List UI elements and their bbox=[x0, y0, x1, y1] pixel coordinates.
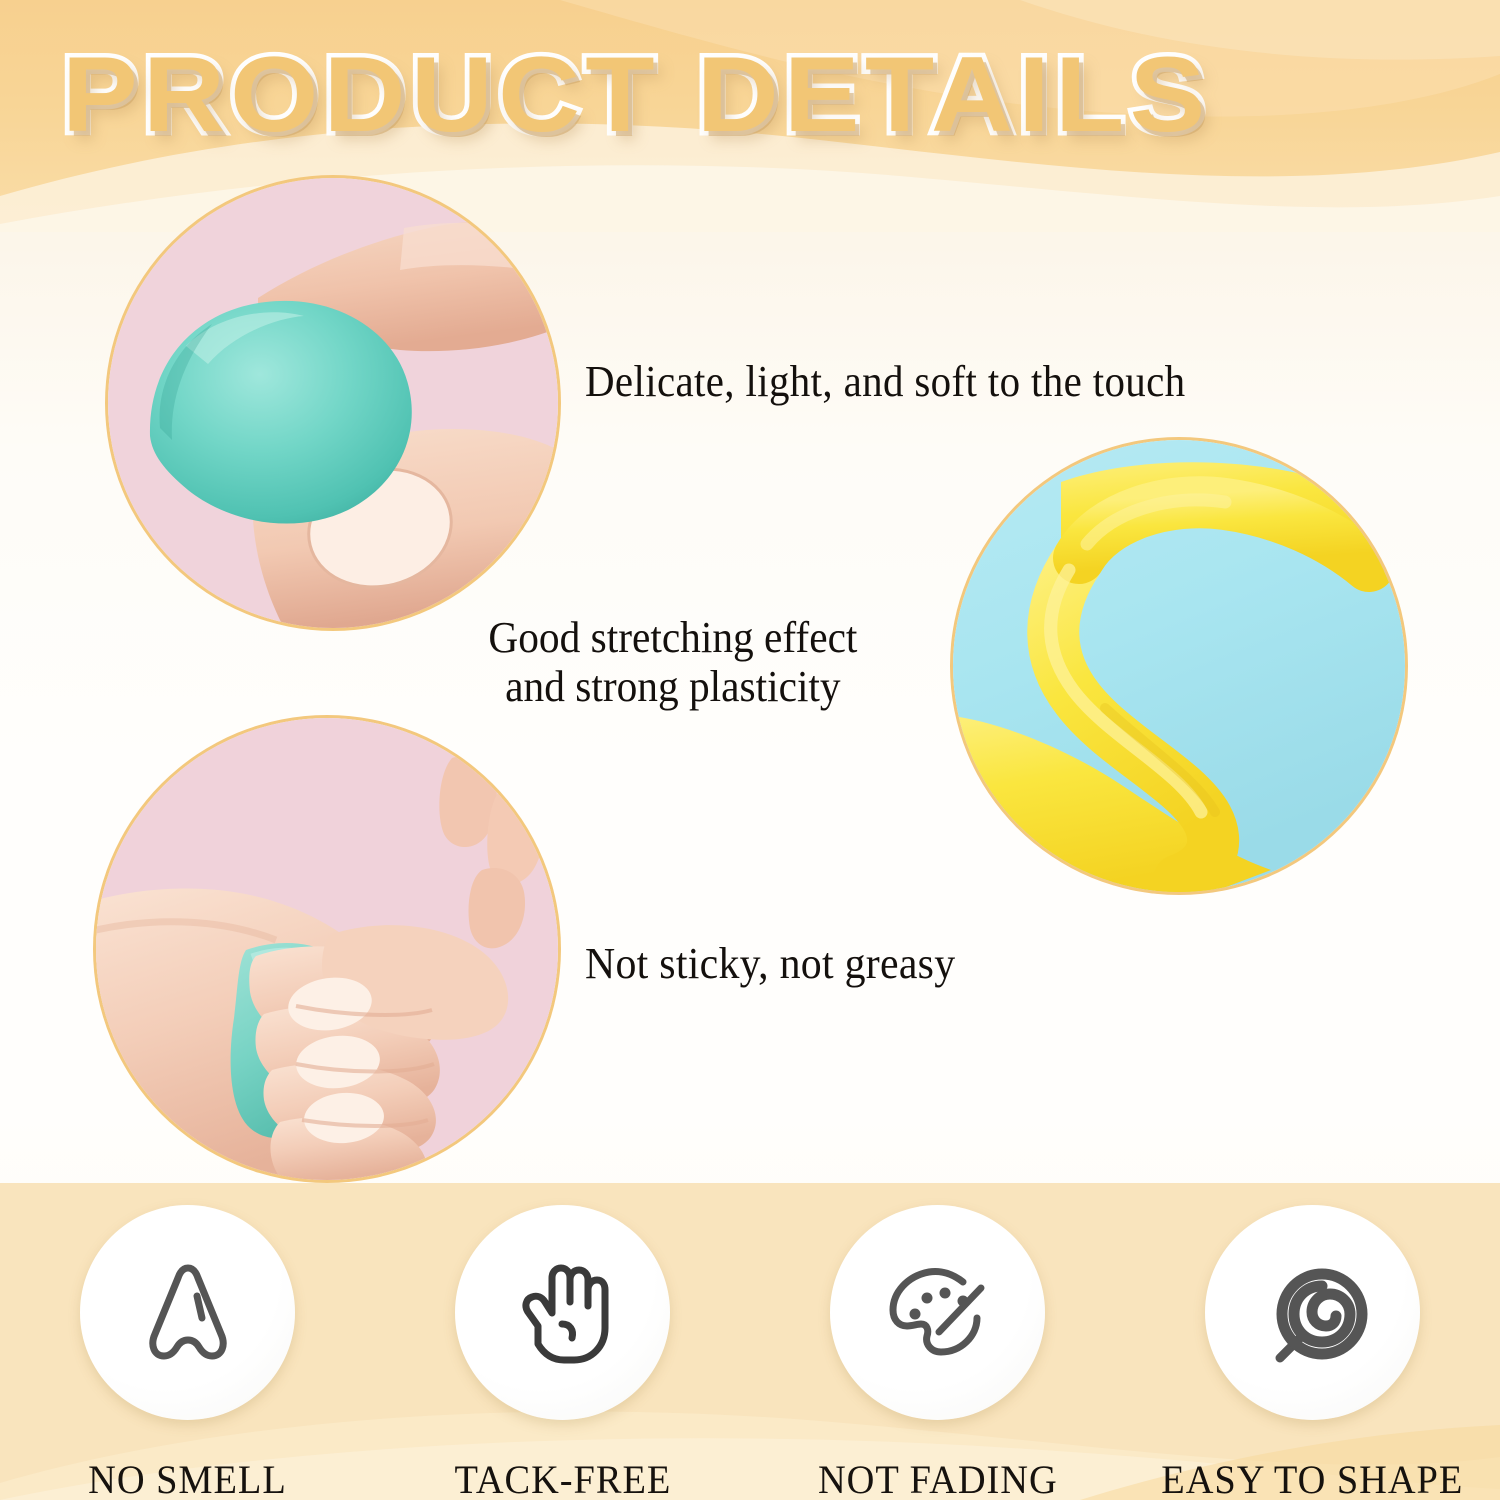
palette-icon bbox=[877, 1252, 999, 1374]
squeezing-ball-closeup-image bbox=[108, 178, 558, 628]
feature-label-easy-to-shape: EASY TO SHAPE bbox=[1162, 1456, 1464, 1500]
photo-hand-squeezing-ball bbox=[96, 718, 558, 1180]
nose-icon-circle bbox=[80, 1205, 295, 1420]
photo-squeezing-ball-closeup bbox=[108, 178, 558, 628]
feature-list: NO SMELL TACK-FREE bbox=[0, 1205, 1500, 1500]
nose-icon bbox=[127, 1252, 249, 1374]
feature-item-no-smell: NO SMELL bbox=[23, 1205, 353, 1500]
caption-stretching-plasticity: Good stretching effect and strong plasti… bbox=[452, 613, 894, 712]
lollipop-icon bbox=[1252, 1252, 1374, 1374]
hand-icon bbox=[502, 1252, 624, 1374]
hand-squeezing-ball-image bbox=[96, 718, 558, 1180]
page-title-container: PRODUCT DETAILS bbox=[0, 40, 1500, 149]
feature-label-tack-free: TACK-FREE bbox=[454, 1456, 671, 1500]
hand-icon-circle bbox=[455, 1205, 670, 1420]
photo-stretched-putty-swirl bbox=[953, 440, 1405, 892]
feature-label-not-fading: NOT FADING bbox=[818, 1456, 1058, 1500]
feature-label-no-smell: NO SMELL bbox=[88, 1456, 287, 1500]
stretched-putty-swirl-image bbox=[953, 440, 1405, 892]
page-title: PRODUCT DETAILS bbox=[62, 40, 1211, 149]
lollipop-icon-circle bbox=[1205, 1205, 1420, 1420]
product-details-infographic: PRODUCT DETAILS bbox=[0, 0, 1500, 1500]
feature-item-tack-free: TACK-FREE bbox=[398, 1205, 728, 1500]
palette-icon-circle bbox=[830, 1205, 1045, 1420]
feature-item-not-fading: NOT FADING bbox=[773, 1205, 1103, 1500]
caption-not-sticky: Not sticky, not greasy bbox=[585, 938, 955, 989]
caption-delicate-soft: Delicate, light, and soft to the touch bbox=[585, 356, 1186, 407]
feature-item-easy-to-shape: EASY TO SHAPE bbox=[1148, 1205, 1478, 1500]
